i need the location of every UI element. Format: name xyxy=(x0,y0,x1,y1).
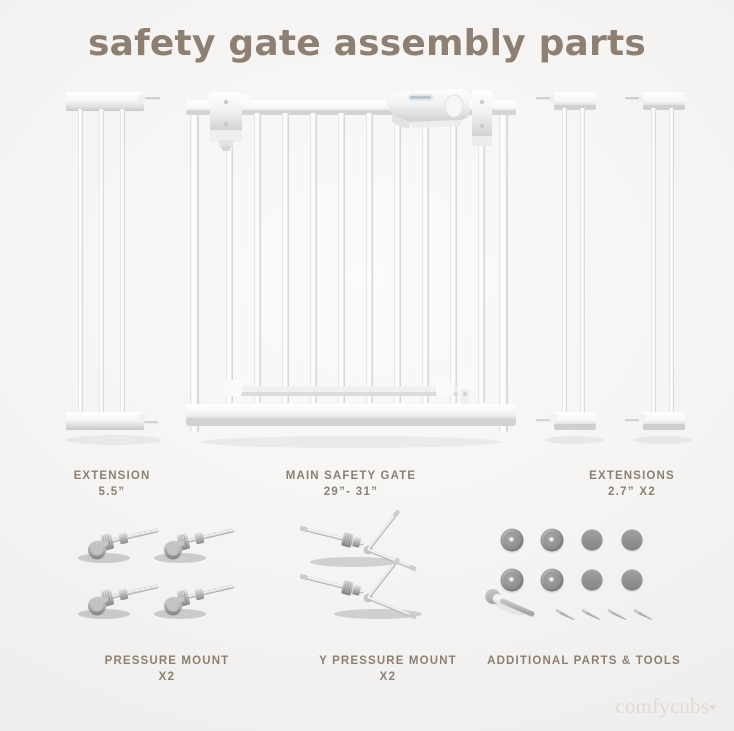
wall-pad-1 xyxy=(581,529,603,552)
bottom-lock-pin xyxy=(459,372,471,406)
wall-cup-4 xyxy=(540,569,564,594)
caption-extension-5-5-spec: 5.5” xyxy=(22,484,202,500)
additional-parts-tools-illustration xyxy=(494,524,664,638)
part-extension-5-5 xyxy=(58,88,166,448)
part-y-pressure-mount xyxy=(296,522,476,632)
screw-2 xyxy=(581,609,601,622)
caption-y-pressure-mount-spec: X2 xyxy=(268,669,508,685)
part-extension-2-7-a xyxy=(536,88,608,448)
wall-cup-2 xyxy=(540,529,564,554)
screw-1 xyxy=(555,609,575,622)
wall-cup-1 xyxy=(500,529,524,554)
gate-latch-handle xyxy=(386,89,493,146)
wall-pad-2 xyxy=(621,529,643,552)
y-pressure-mount-illustration xyxy=(296,522,476,632)
extension-5-5-illustration xyxy=(58,88,166,448)
part-main-safety-gate xyxy=(186,86,516,448)
part-pressure-mount xyxy=(70,522,260,632)
infographic-sheet: safety gate assembly parts xyxy=(0,0,734,731)
brand-wordmark: comfycubs xyxy=(615,694,709,718)
caption-pressure-mount-spec: X2 xyxy=(42,669,292,685)
wall-pad-4 xyxy=(621,569,643,592)
page-title: safety gate assembly parts xyxy=(0,22,734,66)
part-additional-parts-tools xyxy=(494,524,664,638)
pressure-mount-illustration xyxy=(70,522,260,632)
caption-extension-5-5: EXTENSION 5.5” xyxy=(22,468,202,500)
caption-additional-parts-tools: ADDITIONAL PARTS & TOOLS xyxy=(464,653,704,669)
hinge-bracket xyxy=(208,92,250,151)
extension-2-7-illustration-b xyxy=(625,88,697,448)
caption-main-safety-gate-name: MAIN SAFETY GATE xyxy=(286,470,416,482)
caption-extensions-2-7-spec: 2.7” X2 xyxy=(532,484,732,500)
caption-y-pressure-mount-name: Y PRESSURE MOUNT xyxy=(319,655,457,667)
brand-logo: comfycubs♥ xyxy=(615,694,716,719)
part-extension-2-7-b xyxy=(625,88,697,448)
caption-pressure-mount-name: PRESSURE MOUNT xyxy=(105,655,230,667)
extension-2-7-illustration-a xyxy=(536,88,608,448)
caption-extensions-2-7: EXTENSIONS 2.7” X2 xyxy=(532,468,732,500)
caption-main-safety-gate-spec: 29”- 31” xyxy=(251,484,451,500)
caption-main-safety-gate: MAIN SAFETY GATE 29”- 31” xyxy=(251,468,451,500)
main-safety-gate-illustration xyxy=(186,86,516,448)
screw-3 xyxy=(607,609,627,622)
screw-4 xyxy=(633,609,653,622)
caption-pressure-mount: PRESSURE MOUNT X2 xyxy=(42,653,292,685)
heart-icon: ♥ xyxy=(709,702,716,714)
wall-cup-3 xyxy=(500,569,524,594)
caption-extension-5-5-name: EXTENSION xyxy=(74,470,151,482)
caption-extensions-2-7-name: EXTENSIONS xyxy=(589,470,675,482)
caption-additional-parts-tools-name: ADDITIONAL PARTS & TOOLS xyxy=(487,655,681,667)
wall-pad-3 xyxy=(581,569,603,592)
